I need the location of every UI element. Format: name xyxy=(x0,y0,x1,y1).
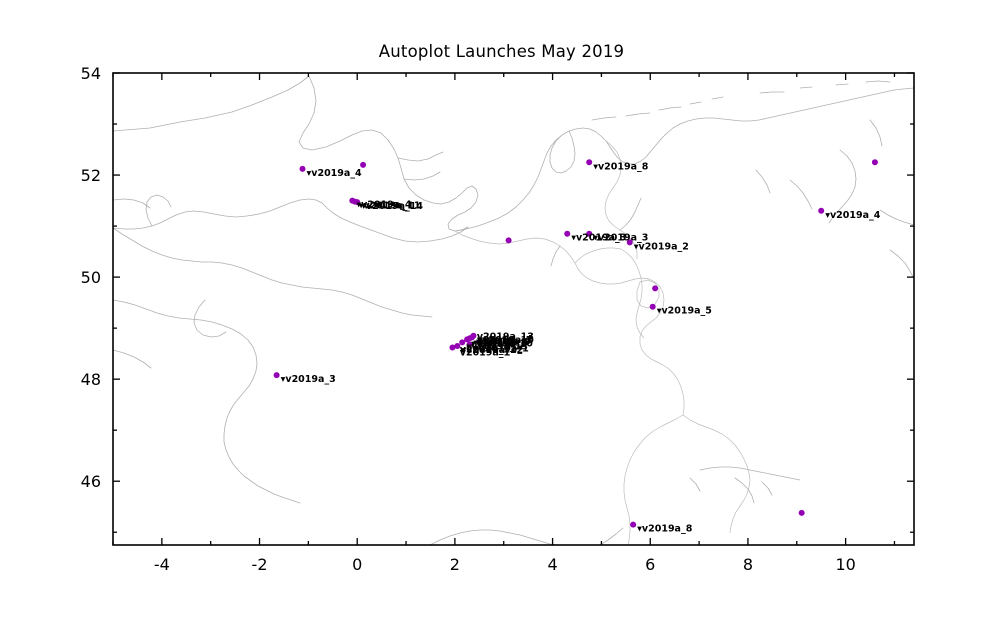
data-point-marker[interactable] xyxy=(799,510,805,516)
y-tick-label: 46 xyxy=(81,472,101,491)
x-tick-label: -2 xyxy=(252,555,268,574)
data-point-marker[interactable] xyxy=(650,304,656,310)
data-point-label: ▾v2019a_5 xyxy=(657,306,712,317)
x-tick-label: 8 xyxy=(743,555,753,574)
data-point-label: ▾v2019a_14 xyxy=(361,201,423,212)
data-point-label: v2019a_1 xyxy=(460,348,510,359)
axis-tick-labels: -4-202468104648505254 xyxy=(81,64,856,574)
basemap-coastlines xyxy=(113,76,914,545)
x-tick-label: 10 xyxy=(835,555,855,574)
data-point-label: ▾v2019a_8 xyxy=(637,524,693,535)
axis-ticks xyxy=(113,73,914,545)
data-point-marker[interactable] xyxy=(818,208,824,214)
y-tick-label: 54 xyxy=(81,64,101,83)
data-point-label: ▾v2019a_4 xyxy=(825,210,881,221)
figure-canvas: Autoplot Launches May 2019 xyxy=(0,0,1003,633)
data-point-marker[interactable] xyxy=(652,285,658,291)
x-tick-label: 6 xyxy=(645,555,655,574)
y-tick-label: 50 xyxy=(81,268,101,287)
data-point-label: ▾v2019a_4 xyxy=(307,168,363,179)
data-point-marker[interactable] xyxy=(564,231,570,237)
y-tick-label: 52 xyxy=(81,166,101,185)
x-tick-label: 2 xyxy=(450,555,460,574)
data-point-marker[interactable] xyxy=(506,237,512,243)
x-tick-label: 0 xyxy=(352,555,362,574)
data-point-marker[interactable] xyxy=(630,522,636,528)
data-point-marker[interactable] xyxy=(274,372,280,378)
y-tick-label: 48 xyxy=(81,370,101,389)
data-point-group[interactable] xyxy=(274,159,878,527)
data-point-label: ▾v2019a_2 xyxy=(634,241,689,252)
x-tick-label: 4 xyxy=(547,555,557,574)
data-label-group: ▾v2019a_3▾v2019a_4▾v2019a_4▾v2019a_11▾v2… xyxy=(281,161,881,534)
data-point-marker[interactable] xyxy=(872,159,878,165)
axis-frame xyxy=(113,73,914,545)
data-point-label: ▾v2019a_8 xyxy=(593,161,649,172)
data-point-label: ▾v2019a_3 xyxy=(281,374,336,385)
map-scatter-plot: -4-202468104648505254 ▾v2019a_3▾v2019a_4… xyxy=(0,0,1003,633)
data-point-marker[interactable] xyxy=(586,159,592,165)
data-point-marker[interactable] xyxy=(300,166,306,172)
x-tick-label: -4 xyxy=(154,555,170,574)
